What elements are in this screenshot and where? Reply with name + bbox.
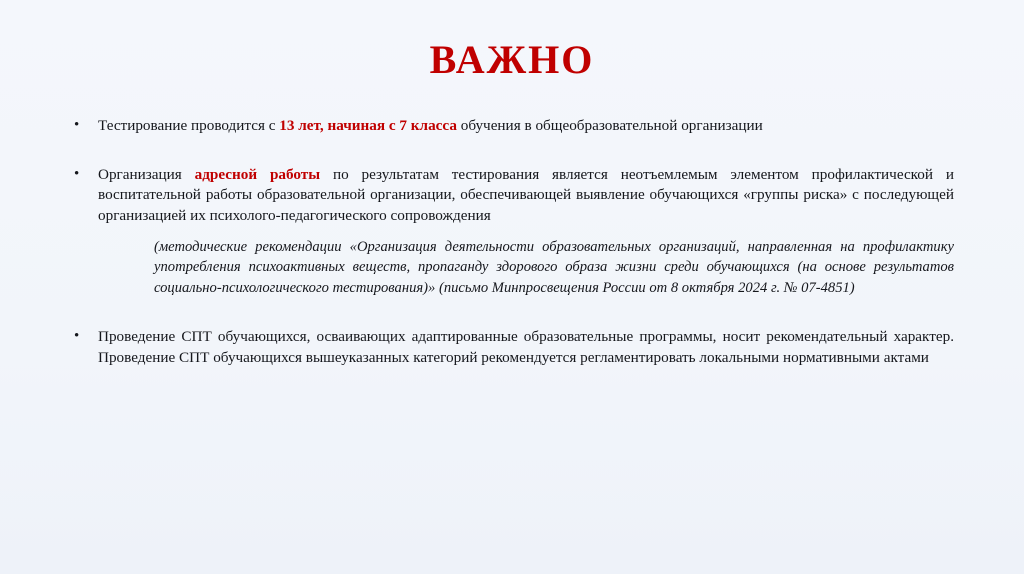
- bullet-targeted-work: Организация адресной работы по результат…: [62, 165, 954, 299]
- bullet-text-before: Организация: [98, 166, 195, 183]
- bullet-text-after: Проведение СПТ обучающихся, осваивающих …: [98, 328, 954, 366]
- bullet-list: Тестирование проводится с 13 лет, начина…: [62, 116, 954, 368]
- bullet-text-before: Тестирование проводится с: [98, 117, 279, 134]
- bullet-text-after: обучения в общеобразовательной организац…: [457, 117, 763, 134]
- bullet-age-requirement: Тестирование проводится с 13 лет, начина…: [62, 116, 954, 137]
- methodical-recommendations-citation: (методические рекомендации «Организация …: [154, 237, 954, 299]
- bullet-adapted-programs: Проведение СПТ обучающихся, осваивающих …: [62, 327, 954, 368]
- bullet-highlight-age: 13 лет, начиная с 7 класса: [279, 117, 457, 134]
- bullet-highlight-targeted-work: адресной работы: [195, 166, 320, 183]
- slide-root: ВАЖНО Тестирование проводится с 13 лет, …: [0, 0, 1024, 574]
- slide-content: Тестирование проводится с 13 лет, начина…: [0, 116, 1024, 368]
- page-title: ВАЖНО: [0, 0, 1024, 80]
